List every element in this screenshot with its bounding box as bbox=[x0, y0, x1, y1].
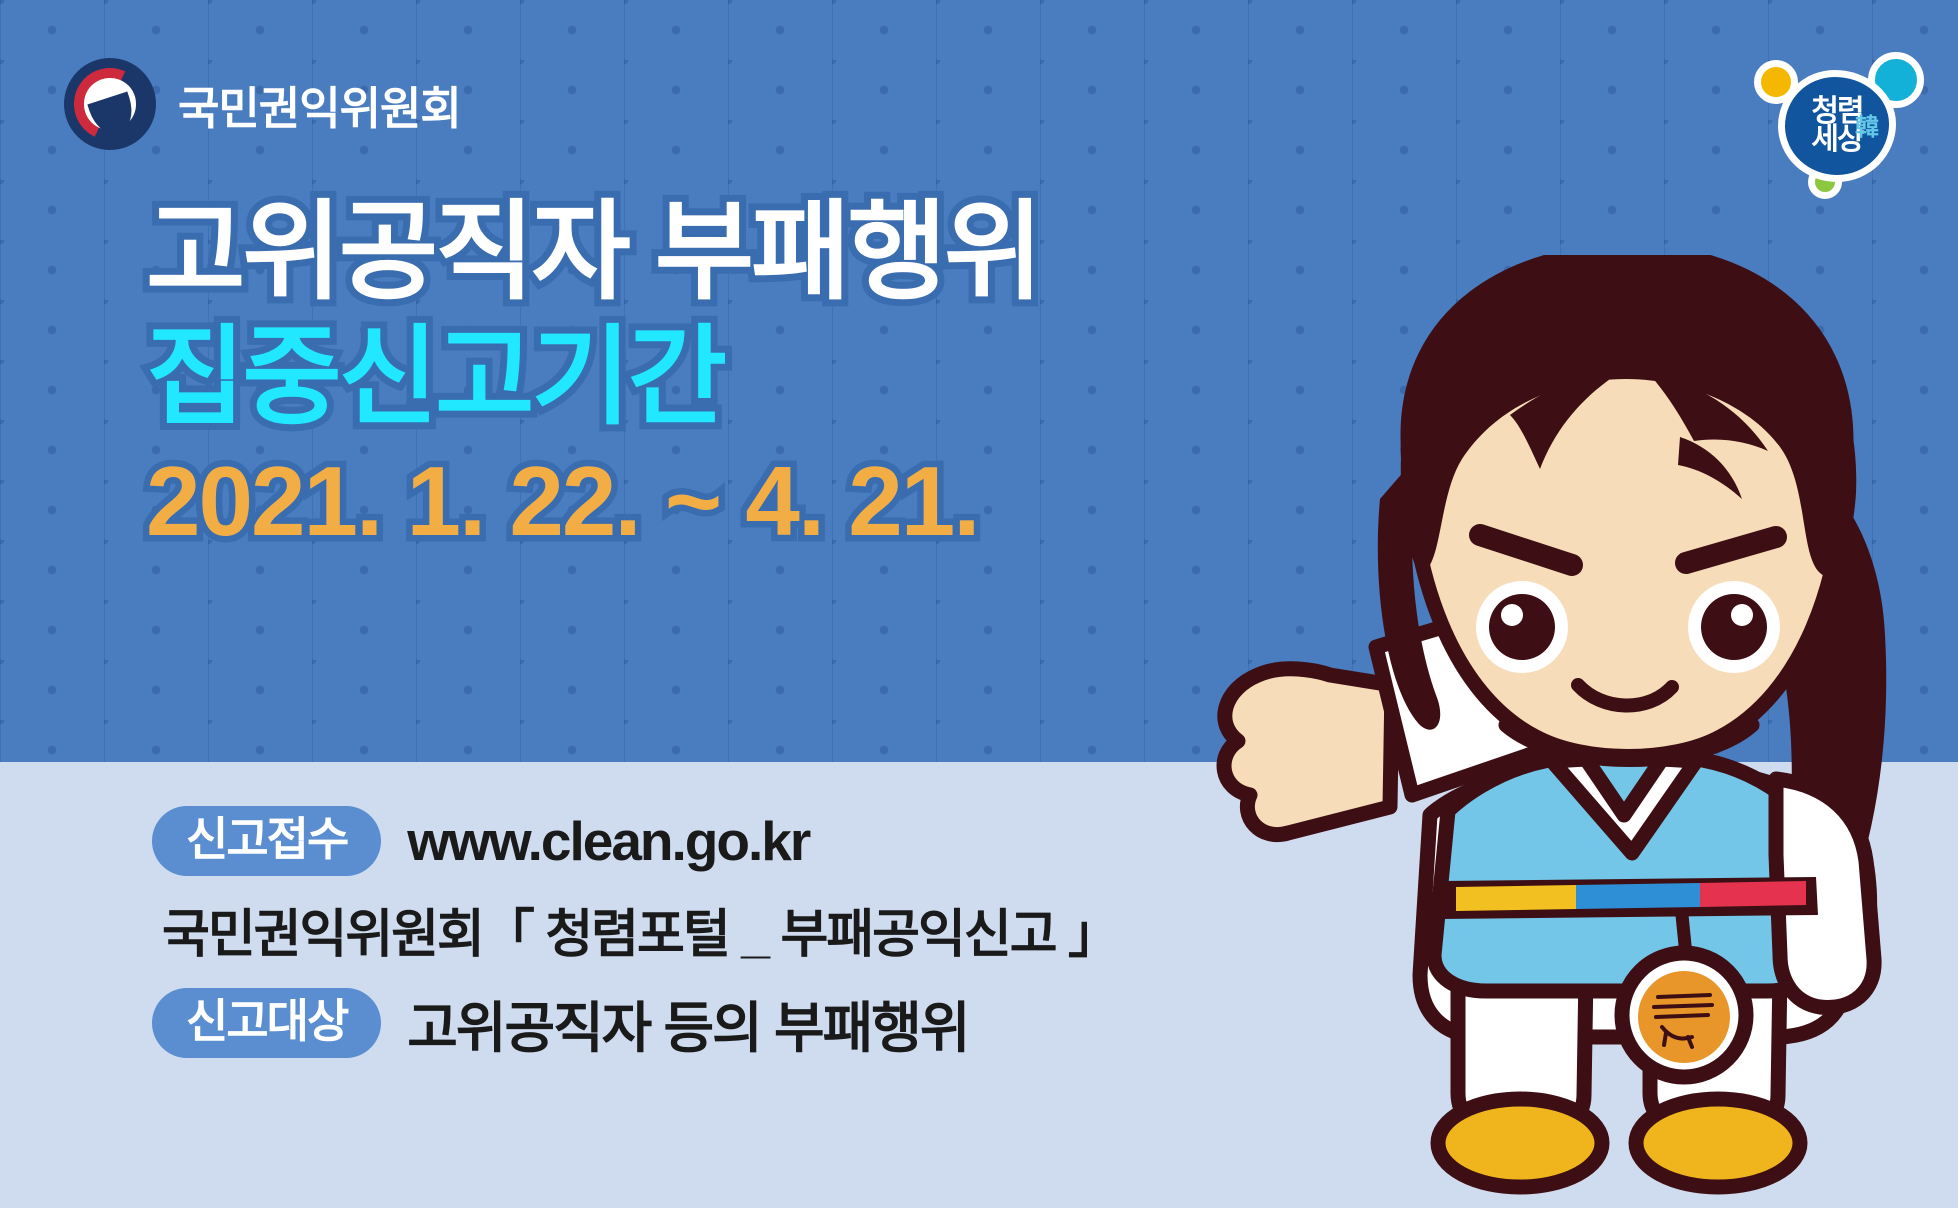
title-block: 고위공직자 부패행위 집중신고기간 2021. 1. 22. ~ 4. 21. bbox=[146, 192, 1040, 563]
report-channel-badge: 신고접수 bbox=[152, 806, 381, 876]
taegeuk-icon bbox=[64, 58, 156, 150]
brand-logo-han: 韓 bbox=[1855, 107, 1879, 142]
hanbok-girl-mascot bbox=[1180, 255, 1958, 1205]
title-line-1: 고위공직자 부패행위 bbox=[146, 192, 1040, 313]
cheongryeom-brand-logo: 청렴 세상 韓 bbox=[1752, 40, 1932, 195]
campaign-date-range: 2021. 1. 22. ~ 4. 21. bbox=[146, 440, 1040, 563]
info-block: 신고접수 www.clean.go.kr 국민권익위원회「 청렴포털 _ 부패공… bbox=[152, 806, 1118, 1079]
poster-canvas: 국민권익위원회 청렴 세상 韓 고위공직자 부패행위 집중신고기간 2021. … bbox=[0, 0, 1958, 1208]
title-line-2: 집중신고기간 bbox=[146, 313, 1040, 440]
report-channel-url[interactable]: www.clean.go.kr bbox=[407, 809, 809, 873]
brand-logo-blob: 청렴 세상 韓 bbox=[1778, 70, 1896, 182]
report-channel-detail: 국민권익위원회「 청렴포털 _ 부패공익신고 」 bbox=[162, 892, 1118, 967]
report-channel-row: 신고접수 www.clean.go.kr bbox=[152, 806, 1118, 876]
government-logo: 국민권익위원회 bbox=[64, 58, 461, 150]
report-target-badge: 신고대상 bbox=[152, 988, 381, 1058]
report-target-value: 고위공직자 등의 부패행위 bbox=[407, 983, 968, 1063]
gov-agency-name: 국민권익위원회 bbox=[178, 72, 461, 137]
report-target-row: 신고대상 고위공직자 등의 부패행위 bbox=[152, 983, 1118, 1063]
